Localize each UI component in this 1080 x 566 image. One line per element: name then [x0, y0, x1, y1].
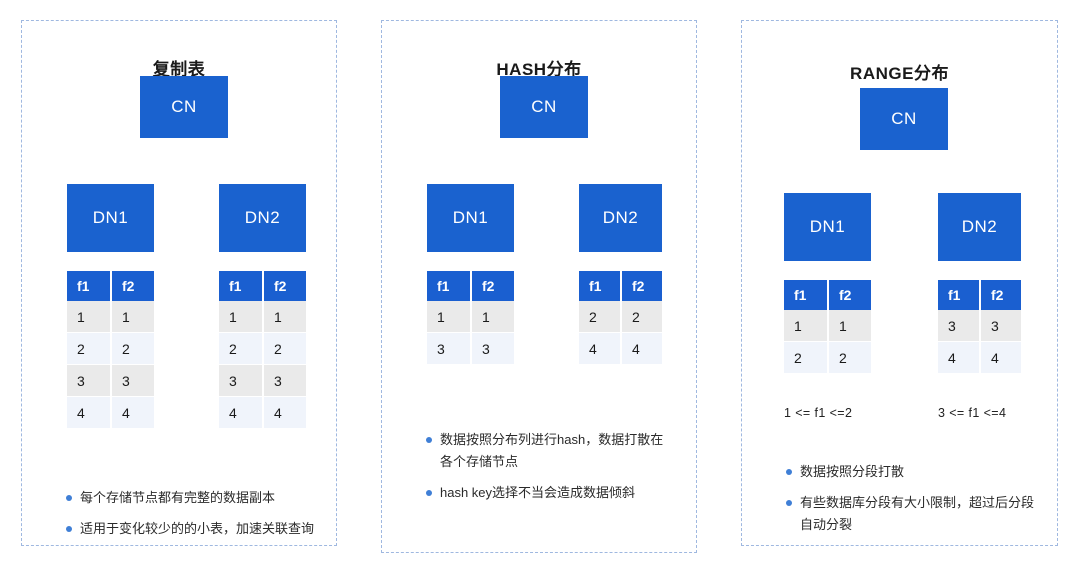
column-header-f1: f1 — [67, 271, 111, 301]
cell-f1: 2 — [579, 301, 621, 333]
table-row: 1 1 — [67, 301, 154, 333]
cn-node-label: CN — [171, 97, 197, 117]
cn-node-label: CN — [891, 109, 917, 129]
table-row: 3 3 — [427, 333, 514, 365]
cell-f2: 4 — [621, 333, 662, 365]
dn-node-replicated-dn1: DN1 — [67, 184, 154, 252]
data-table-replicated-dn1: f1 f2 1 1 2 2 3 3 4 4 — [67, 271, 154, 429]
cell-f1: 4 — [579, 333, 621, 365]
table-header-row: f1 f2 — [219, 271, 306, 301]
cell-f2: 2 — [111, 333, 154, 365]
data-table-hash-dn2: f1 f2 2 2 4 4 — [579, 271, 662, 365]
column-header-f1: f1 — [219, 271, 263, 301]
column-header-f2: f2 — [471, 271, 514, 301]
cell-f2: 3 — [471, 333, 514, 365]
table-row: 2 2 — [67, 333, 154, 365]
column-header-f2: f2 — [263, 271, 306, 301]
column-header-f1: f1 — [579, 271, 621, 301]
bullet-list-hash-distribution: 数据按照分布列进行hash，数据打散在各个存储节点 hash key选择不当会造… — [426, 429, 671, 504]
panel-range-distribution: RANGE分布 CN DN1 f1 f2 1 1 2 — [741, 20, 1058, 546]
column-header-f1: f1 — [938, 280, 980, 310]
diagram-canvas: 复制表 CN DN1 f1 f2 1 1 2 — [0, 0, 1080, 566]
dn-node-range-dn2: DN2 — [938, 193, 1021, 261]
cn-node-range-distribution: CN — [860, 88, 948, 150]
cell-f2: 2 — [621, 301, 662, 333]
cell-f2: 1 — [263, 301, 306, 333]
cell-f2: 2 — [263, 333, 306, 365]
table-row: 2 2 — [219, 333, 306, 365]
bullet-dot-icon — [786, 500, 792, 506]
dn-node-hash-dn2: DN2 — [579, 184, 662, 252]
column-header-f2: f2 — [828, 280, 871, 310]
dn-node-label: DN1 — [810, 217, 846, 237]
table-row: 3 3 — [219, 365, 306, 397]
data-table-hash-dn1: f1 f2 1 1 3 3 — [427, 271, 514, 365]
cn-node-hash-distribution: CN — [500, 76, 588, 138]
bullet-item: 数据按照分段打散 — [786, 461, 1034, 483]
cell-f2: 4 — [980, 342, 1021, 374]
panel-title-range-distribution: RANGE分布 — [742, 59, 1057, 84]
bullet-dot-icon — [426, 437, 432, 443]
bullet-item: 有些数据库分段有大小限制，超过后分段自动分裂 — [786, 492, 1034, 536]
bullet-text: 适用于变化较少的的小表，加速关联查询 — [80, 518, 316, 540]
cell-f1: 1 — [427, 301, 471, 333]
cell-f1: 1 — [784, 310, 828, 342]
cell-f1: 4 — [938, 342, 980, 374]
data-table-range-dn1: f1 f2 1 1 2 2 — [784, 280, 871, 374]
bullet-dot-icon — [66, 526, 72, 532]
table-header-row: f1 f2 — [67, 271, 154, 301]
dn-node-label: DN1 — [93, 208, 129, 228]
bullet-dot-icon — [426, 490, 432, 496]
column-header-f2: f2 — [621, 271, 662, 301]
cell-f2: 1 — [471, 301, 514, 333]
column-header-f1: f1 — [784, 280, 828, 310]
range-label-dn2: 3 <= f1 <=4 — [938, 406, 1006, 420]
dn-node-range-dn1: DN1 — [784, 193, 871, 261]
table-header-row: f1 f2 — [938, 280, 1021, 310]
bullet-text: hash key选择不当会造成数据倾斜 — [440, 482, 671, 504]
bullet-item: 数据按照分布列进行hash，数据打散在各个存储节点 — [426, 429, 671, 473]
table-row: 4 4 — [219, 397, 306, 429]
bullet-dot-icon — [66, 495, 72, 501]
table-row: 4 4 — [938, 342, 1021, 374]
table-header-row: f1 f2 — [427, 271, 514, 301]
cell-f1: 2 — [784, 342, 828, 374]
dn-node-label: DN2 — [603, 208, 639, 228]
cell-f2: 4 — [263, 397, 306, 429]
bullet-text: 数据按照分段打散 — [800, 461, 1034, 483]
bullet-text: 数据按照分布列进行hash，数据打散在各个存储节点 — [440, 429, 671, 473]
cell-f1: 3 — [67, 365, 111, 397]
dn-node-label: DN2 — [962, 217, 998, 237]
cell-f2: 1 — [828, 310, 871, 342]
data-table-range-dn2: f1 f2 3 3 4 4 — [938, 280, 1021, 374]
cell-f2: 4 — [111, 397, 154, 429]
table-row: 4 4 — [579, 333, 662, 365]
bullet-item: 每个存储节点都有完整的数据副本 — [66, 487, 316, 509]
bullet-list-replicated-table: 每个存储节点都有完整的数据副本 适用于变化较少的的小表，加速关联查询 — [66, 487, 316, 540]
cell-f2: 3 — [263, 365, 306, 397]
cell-f2: 3 — [111, 365, 154, 397]
bullet-text: 有些数据库分段有大小限制，超过后分段自动分裂 — [800, 492, 1034, 536]
cell-f1: 3 — [427, 333, 471, 365]
table-row: 2 2 — [579, 301, 662, 333]
column-header-f1: f1 — [427, 271, 471, 301]
table-row: 3 3 — [67, 365, 154, 397]
table-row: 2 2 — [784, 342, 871, 374]
cell-f2: 2 — [828, 342, 871, 374]
table-row: 4 4 — [67, 397, 154, 429]
table-header-row: f1 f2 — [784, 280, 871, 310]
cell-f1: 2 — [67, 333, 111, 365]
table-header-row: f1 f2 — [579, 271, 662, 301]
column-header-f2: f2 — [111, 271, 154, 301]
data-table-replicated-dn2: f1 f2 1 1 2 2 3 3 4 4 — [219, 271, 306, 429]
dn-node-label: DN2 — [245, 208, 281, 228]
cell-f1: 1 — [67, 301, 111, 333]
bullet-text: 每个存储节点都有完整的数据副本 — [80, 487, 316, 509]
cell-f1: 4 — [67, 397, 111, 429]
table-row: 1 1 — [784, 310, 871, 342]
dn-node-label: DN1 — [453, 208, 489, 228]
bullet-list-range-distribution: 数据按照分段打散 有些数据库分段有大小限制，超过后分段自动分裂 — [786, 461, 1034, 536]
dn-node-hash-dn1: DN1 — [427, 184, 514, 252]
cell-f2: 1 — [111, 301, 154, 333]
cell-f1: 2 — [219, 333, 263, 365]
range-label-dn1: 1 <= f1 <=2 — [784, 406, 852, 420]
table-row: 1 1 — [219, 301, 306, 333]
cell-f1: 1 — [219, 301, 263, 333]
dn-node-replicated-dn2: DN2 — [219, 184, 306, 252]
panel-replicated-table: 复制表 CN DN1 f1 f2 1 1 2 — [21, 20, 337, 546]
table-row: 1 1 — [427, 301, 514, 333]
cell-f1: 4 — [219, 397, 263, 429]
column-header-f2: f2 — [980, 280, 1021, 310]
bullet-dot-icon — [786, 469, 792, 475]
cell-f1: 3 — [938, 310, 980, 342]
cn-node-label: CN — [531, 97, 557, 117]
panel-hash-distribution: HASH分布 CN DN1 f1 f2 1 1 3 — [381, 20, 697, 553]
cn-node-replicated-table: CN — [140, 76, 228, 138]
cell-f2: 3 — [980, 310, 1021, 342]
table-row: 3 3 — [938, 310, 1021, 342]
bullet-item: 适用于变化较少的的小表，加速关联查询 — [66, 518, 316, 540]
cell-f1: 3 — [219, 365, 263, 397]
bullet-item: hash key选择不当会造成数据倾斜 — [426, 482, 671, 504]
